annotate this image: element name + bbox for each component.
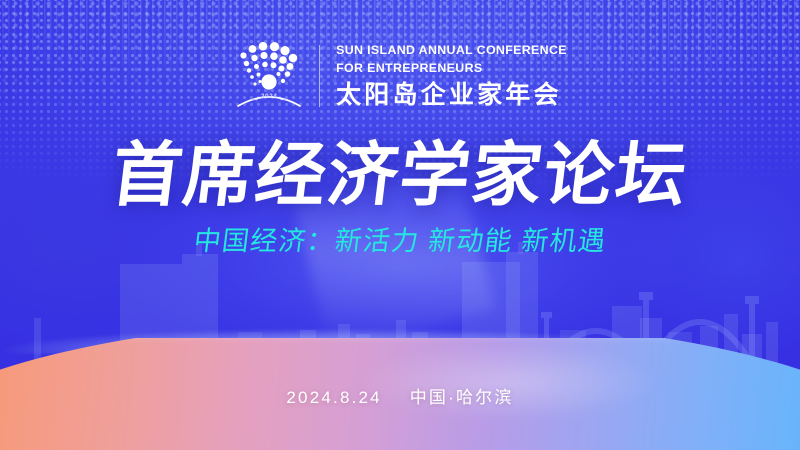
page-subtitle: 中国经济：新活力 新动能 新机遇 xyxy=(0,228,800,255)
logo-year: 2024 xyxy=(233,93,305,100)
page-title: 首席经济学家论坛 xyxy=(0,140,800,210)
logo-chinese-name: 太阳岛企业家年会 xyxy=(336,82,567,110)
event-details: 2024.8.24 中国·哈尔滨 xyxy=(0,383,800,408)
logo-english-line-1: SUN ISLAND ANNUAL CONFERENCE xyxy=(336,43,567,59)
event-date: 2024.8.24 xyxy=(286,388,381,407)
sun-island-fan-dots-icon: 2024 xyxy=(233,36,305,116)
logo-divider xyxy=(319,45,320,107)
logo-text-block: SUN ISLAND ANNUAL CONFERENCE FOR ENTREPR… xyxy=(336,43,567,110)
logo-english-line-2: FOR ENTREPRENEURS xyxy=(336,61,567,77)
logo-lockup: 2024 SUN ISLAND ANNUAL CONFERENCE FOR EN… xyxy=(0,36,800,116)
event-location: 中国·哈尔滨 xyxy=(410,388,514,407)
conference-poster: 2024 SUN ISLAND ANNUAL CONFERENCE FOR EN… xyxy=(0,0,800,450)
